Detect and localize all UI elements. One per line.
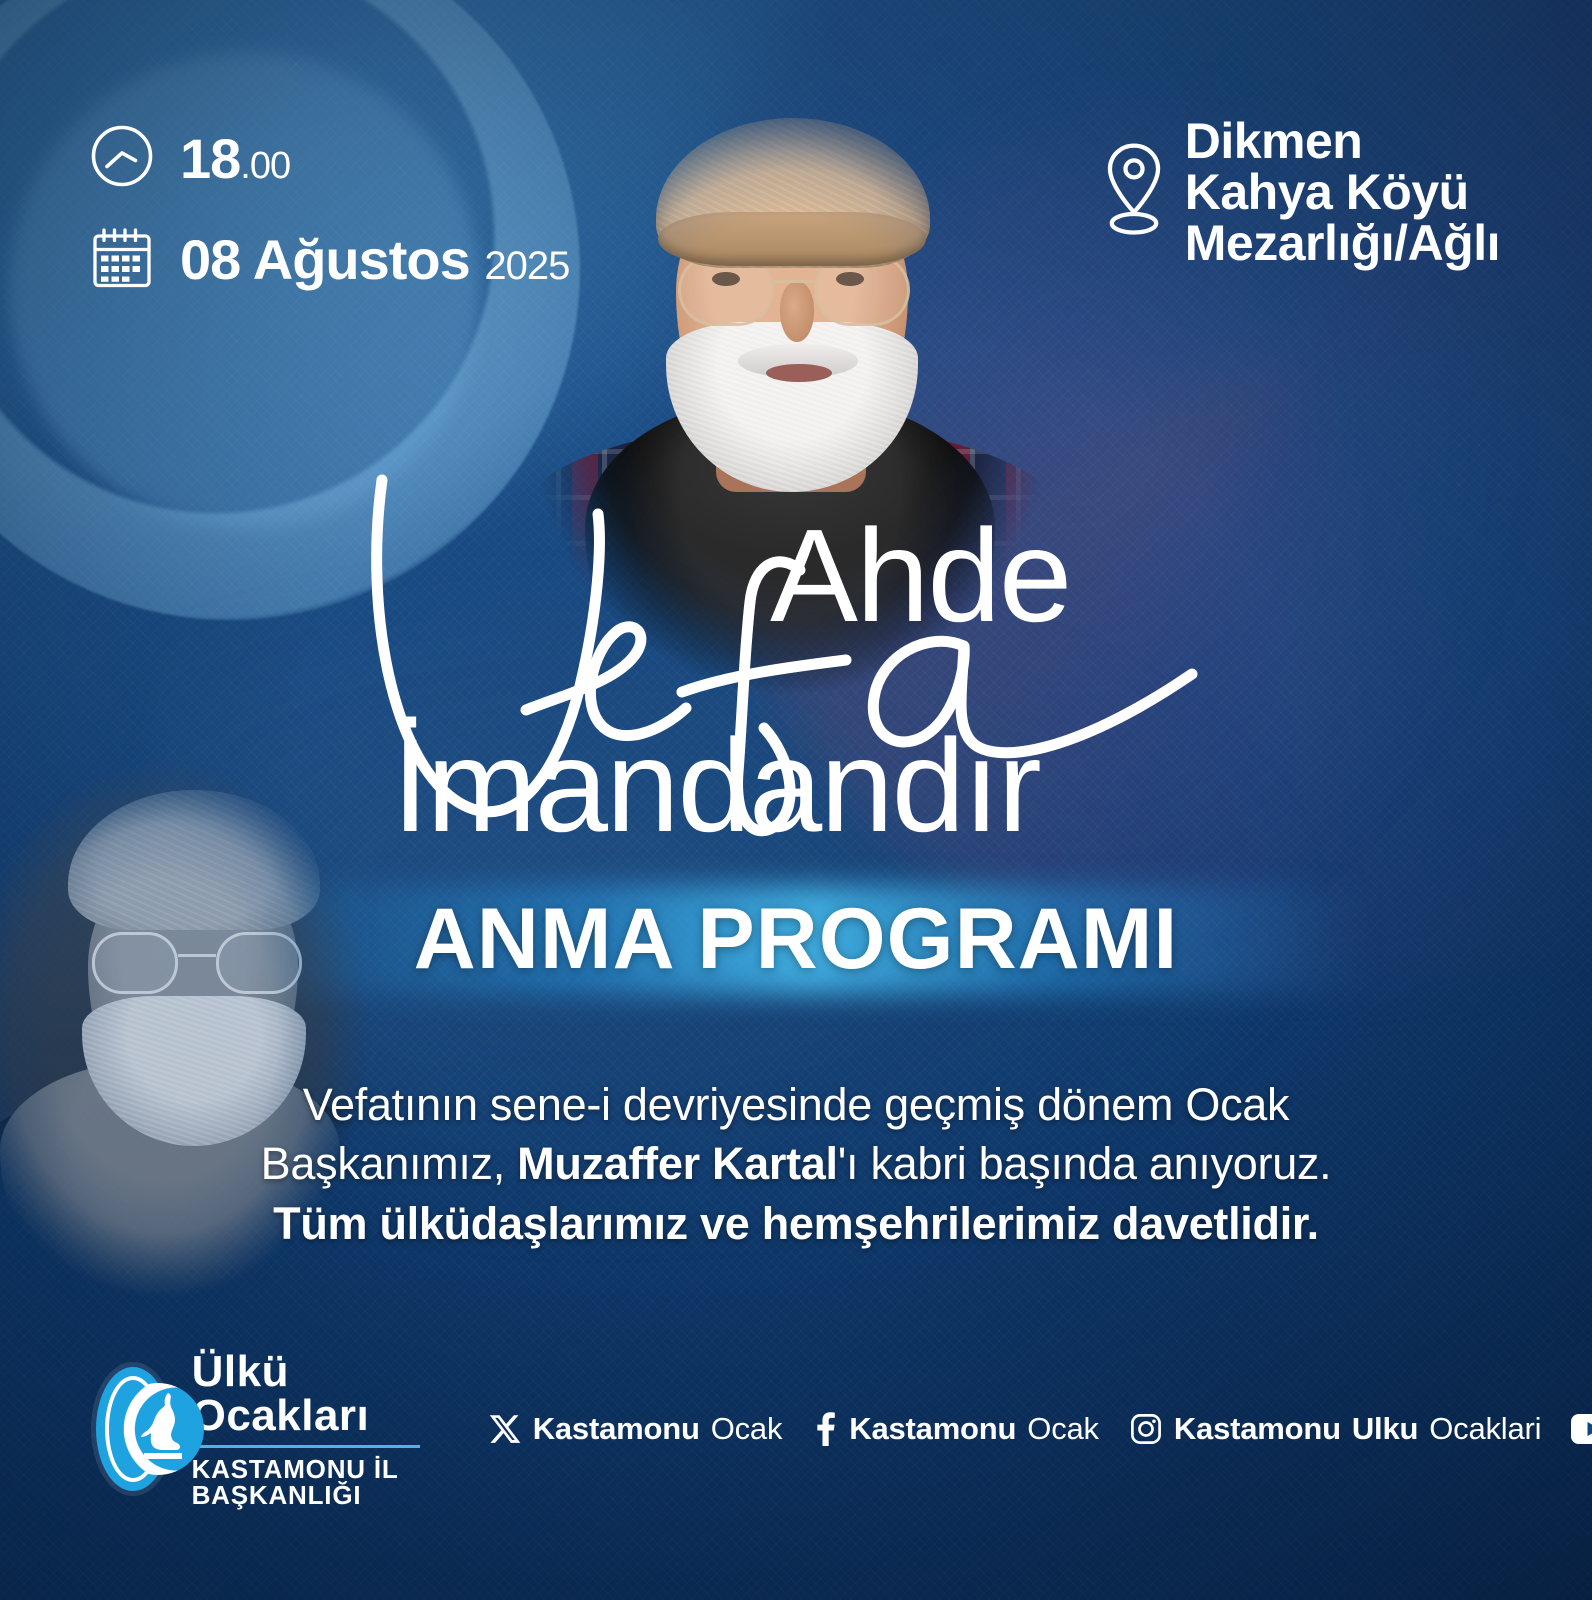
calendar-icon — [86, 221, 158, 298]
social-link-facebook[interactable]: KastamonuOcak — [812, 1411, 1099, 1447]
facebook-icon — [812, 1412, 838, 1446]
instagram-icon — [1129, 1412, 1163, 1446]
social-link-youtube[interactable]: OcakTV — [1571, 1411, 1592, 1447]
brand-block: Ülkü Ocakları KASTAMONU İL BAŞKANLIĞI — [96, 1350, 420, 1508]
footer-bar: Ülkü Ocakları KASTAMONU İL BAŞKANLIĞI Ka… — [0, 1350, 1592, 1508]
facebook-handle-light: Ocak — [1027, 1411, 1099, 1447]
event-date-daymonth: 08 Ağustos — [180, 228, 470, 291]
event-datetime-block: 18.00 08 — [86, 120, 569, 322]
poster-canvas: 18.00 08 — [0, 0, 1592, 1600]
ulku-ocaklari-logo-icon — [96, 1367, 170, 1491]
x-twitter-icon — [488, 1412, 522, 1446]
x-handle-bold: Kastamonu — [533, 1411, 700, 1447]
event-time-hour: 18 — [180, 127, 240, 190]
headline-word-ahde: Ahde — [770, 510, 1070, 642]
location-line-2: Kahya Köyü — [1185, 167, 1500, 218]
event-time-minutes: 00 — [250, 145, 290, 187]
location-line-3: Mezarlığı/Ağlı — [1185, 218, 1500, 269]
headline-word-imandandir: İmandandır — [392, 720, 1040, 852]
clock-icon — [86, 120, 158, 197]
announcement-person-name: Muzaffer Kartal — [517, 1138, 838, 1189]
event-time: 18.00 — [180, 131, 290, 187]
x-handle-light: Ocak — [711, 1411, 783, 1447]
brand-name: Ülkü Ocakları — [192, 1350, 420, 1438]
event-time-row: 18.00 — [86, 120, 569, 197]
event-location-block: Dikmen Kahya Köyü Mezarlığı/Ağlı — [1097, 116, 1500, 269]
social-link-x-twitter[interactable]: KastamonuOcak — [488, 1411, 783, 1447]
brand-text-block: Ülkü Ocakları KASTAMONU İL BAŞKANLIĞI — [192, 1350, 420, 1508]
brand-underline — [192, 1445, 420, 1448]
event-date-row: 08 Ağustos 2025 — [86, 221, 569, 298]
location-text: Dikmen Kahya Köyü Mezarlığı/Ağlı — [1185, 116, 1500, 269]
social-links-group: KastamonuOcak KastamonuOcak KastamonuUlk… — [488, 1411, 1592, 1447]
instagram-handle-pre: Kastamonu — [1174, 1411, 1341, 1447]
announcement-text: Vefatının sene-i devriyesinde geçmiş dön… — [80, 1076, 1512, 1254]
wolf-silhouette-icon — [140, 1391, 186, 1463]
instagram-handle-bold: Ulku — [1352, 1411, 1418, 1447]
social-link-instagram[interactable]: KastamonuUlkuOcaklari — [1129, 1411, 1542, 1447]
youtube-icon — [1571, 1414, 1592, 1444]
announcement-line-3: Tüm ülküdaşlarımız ve hemşehrilerimiz da… — [80, 1195, 1512, 1254]
instagram-handle-light: Ocaklari — [1429, 1411, 1541, 1447]
program-subtitle: ANMA PROGRAMI — [0, 886, 1592, 994]
announcement-line-1: Vefatının sene-i devriyesinde geçmiş dön… — [303, 1079, 1289, 1130]
headline-block: Ahde İmandandır — [0, 470, 1592, 890]
location-line-1: Dikmen — [1185, 116, 1500, 167]
event-date: 08 Ağustos 2025 — [180, 232, 569, 288]
announcement-line-2-pre: Başkanımız, — [261, 1138, 518, 1189]
event-time-separator: . — [240, 145, 250, 187]
facebook-handle-bold: Kastamonu — [849, 1411, 1016, 1447]
location-pin-icon — [1097, 138, 1171, 247]
announcement-line-2-post: 'ı kabri başında anıyoruz. — [838, 1138, 1332, 1189]
event-date-year: 2025 — [484, 244, 569, 288]
brand-subtitle: KASTAMONU İL BAŞKANLIĞI — [192, 1456, 420, 1508]
